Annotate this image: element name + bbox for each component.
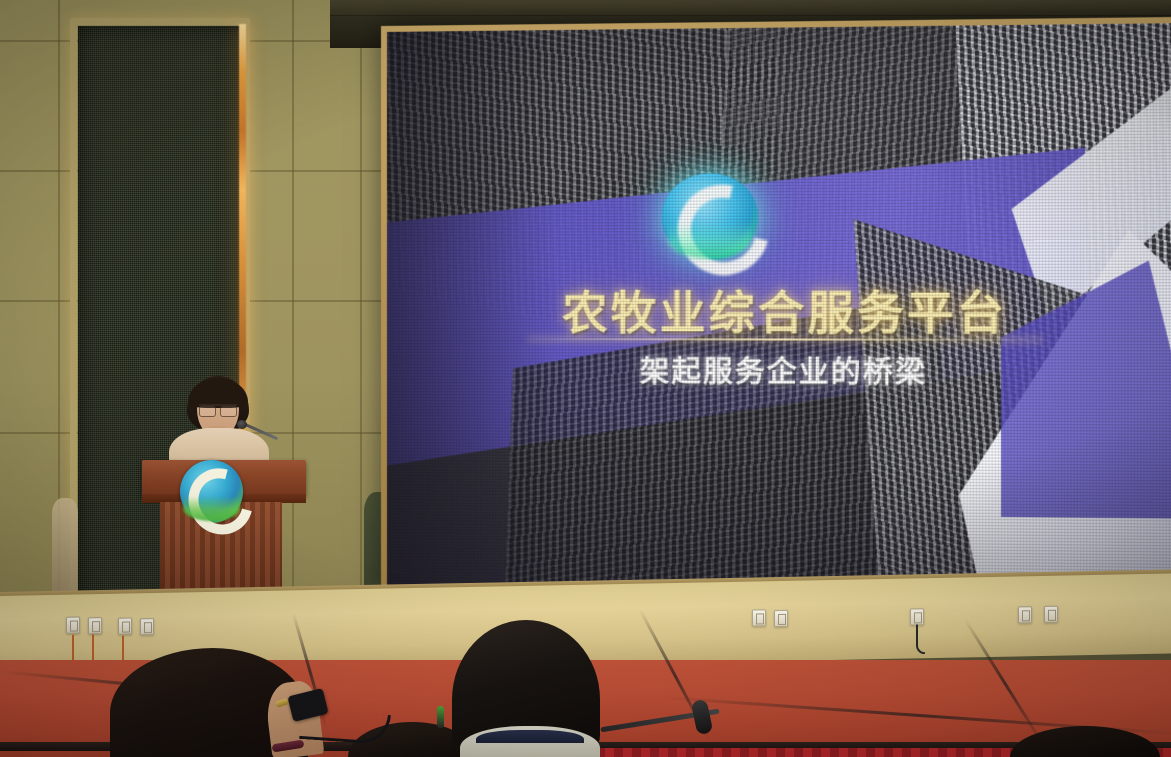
ceiling-trim bbox=[330, 0, 1171, 16]
wall-power-outlet[interactable] bbox=[140, 618, 154, 635]
wall-power-outlet[interactable] bbox=[752, 609, 766, 626]
presentation-hall-photo: 农牧业综合服务平台 架起服务企业的桥梁 bbox=[0, 0, 1171, 757]
slide-title: 农牧业综合服务平台 bbox=[387, 276, 1171, 343]
slide-subtitle: 架起服务企业的桥梁 bbox=[387, 348, 1171, 393]
wall-power-outlet[interactable] bbox=[1044, 606, 1058, 623]
glasses-icon bbox=[199, 404, 237, 413]
wall-power-outlet[interactable] bbox=[88, 617, 102, 634]
projection-screen: 农牧业综合服务平台 架起服务企业的桥梁 bbox=[387, 23, 1171, 596]
wall-power-outlet[interactable] bbox=[118, 617, 132, 634]
swirl-circle-logo-icon bbox=[662, 173, 758, 260]
wall-power-outlet[interactable] bbox=[774, 610, 788, 627]
wall-power-outlet[interactable] bbox=[66, 616, 80, 633]
projection-screen-frame: 农牧业综合服务平台 架起服务企业的桥梁 bbox=[381, 17, 1171, 601]
wall-power-outlet[interactable] bbox=[1018, 606, 1032, 623]
far-person-edge bbox=[52, 498, 78, 594]
green-mic-icon bbox=[437, 706, 444, 728]
wall-power-outlet[interactable] bbox=[910, 608, 924, 625]
podium-swirl-logo-icon bbox=[180, 460, 243, 523]
microphone-icon bbox=[237, 420, 247, 429]
black-cable bbox=[916, 624, 925, 654]
